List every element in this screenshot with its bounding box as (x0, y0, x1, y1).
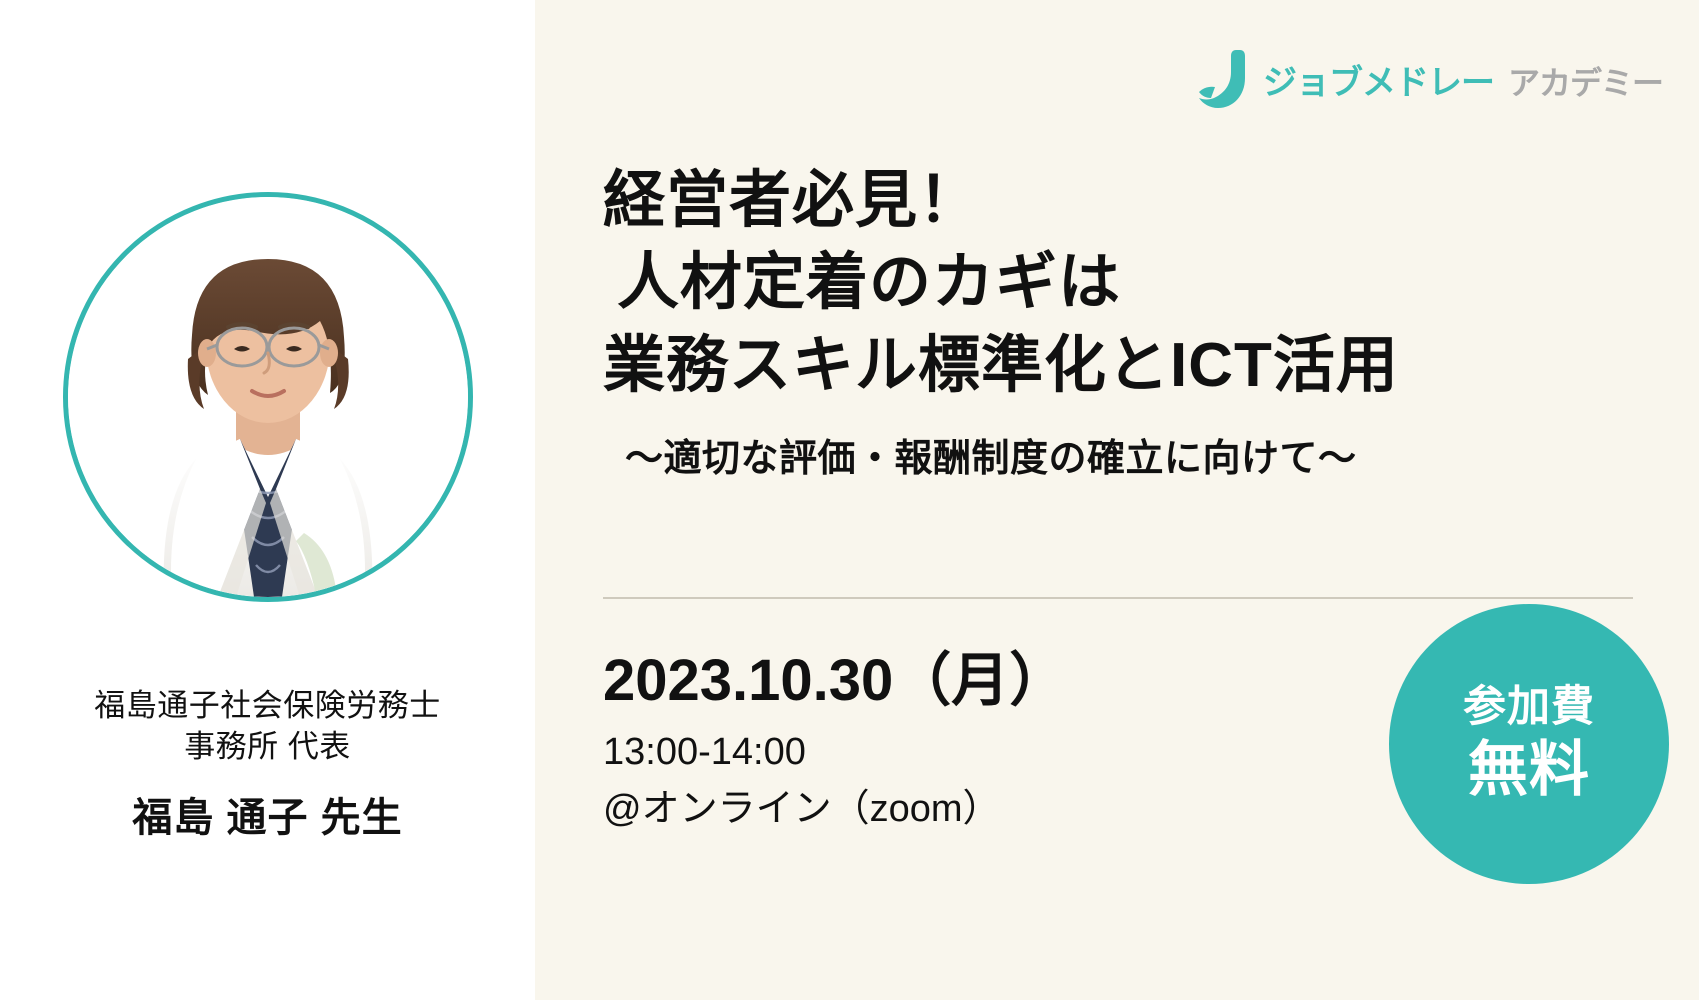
title-line-1: 経営者必見！ (603, 160, 1663, 242)
fee-label: 参加費 (1463, 684, 1595, 731)
brand-logo: ジョブメドレー アカデミー (1197, 48, 1663, 110)
event-location: @オンライン（zoom） (603, 786, 1067, 834)
speaker-portrait-image (68, 197, 468, 597)
title-line-2: 人材定着のカギは (603, 242, 1663, 324)
logo-wordmark: ジョブメドレー アカデミー (1263, 55, 1663, 104)
seminar-banner: 福島通子社会保険労務士 事務所 代表 福島 通子 先生 オンラインセミナー ジョ… (0, 0, 1699, 1000)
event-date: 2023.10.30（月） (603, 648, 1067, 715)
event-details: 2023.10.30（月） 13:00-14:00 @オンライン（zoom） (603, 648, 1067, 834)
section-divider (603, 597, 1633, 599)
event-time: 13:00-14:00 (603, 729, 1067, 777)
speaker-avatar (63, 192, 473, 602)
speaker-meta: 福島通子社会保険労務士 事務所 代表 福島 通子 先生 (0, 685, 535, 843)
speaker-organization: 福島通子社会保険労務士 事務所 代表 (0, 685, 535, 767)
title-subtitle: 〜適切な評価・報酬制度の確立に向けて〜 (603, 427, 1663, 482)
title-line-3: 業務スキル標準化とICT活用 (603, 325, 1663, 407)
j-mark-icon (1197, 48, 1249, 110)
title-block: 経営者必見！ 人材定着のカギは 業務スキル標準化とICT活用 〜適切な評価・報酬… (603, 160, 1663, 482)
logo-brand-text: ジョブメドレー (1263, 55, 1494, 104)
content-panel: オンラインセミナー ジョブメドレー アカデミー 経営者必見！ 人材定着のカギは … (535, 0, 1699, 1000)
speaker-name: 福島 通子 先生 (0, 785, 535, 843)
fee-badge: 参加費 無料 (1389, 604, 1669, 884)
speaker-panel: 福島通子社会保険労務士 事務所 代表 福島 通子 先生 (0, 0, 535, 1000)
logo-sub-text: アカデミー (1508, 58, 1663, 104)
fee-value: 無料 (1468, 735, 1590, 804)
